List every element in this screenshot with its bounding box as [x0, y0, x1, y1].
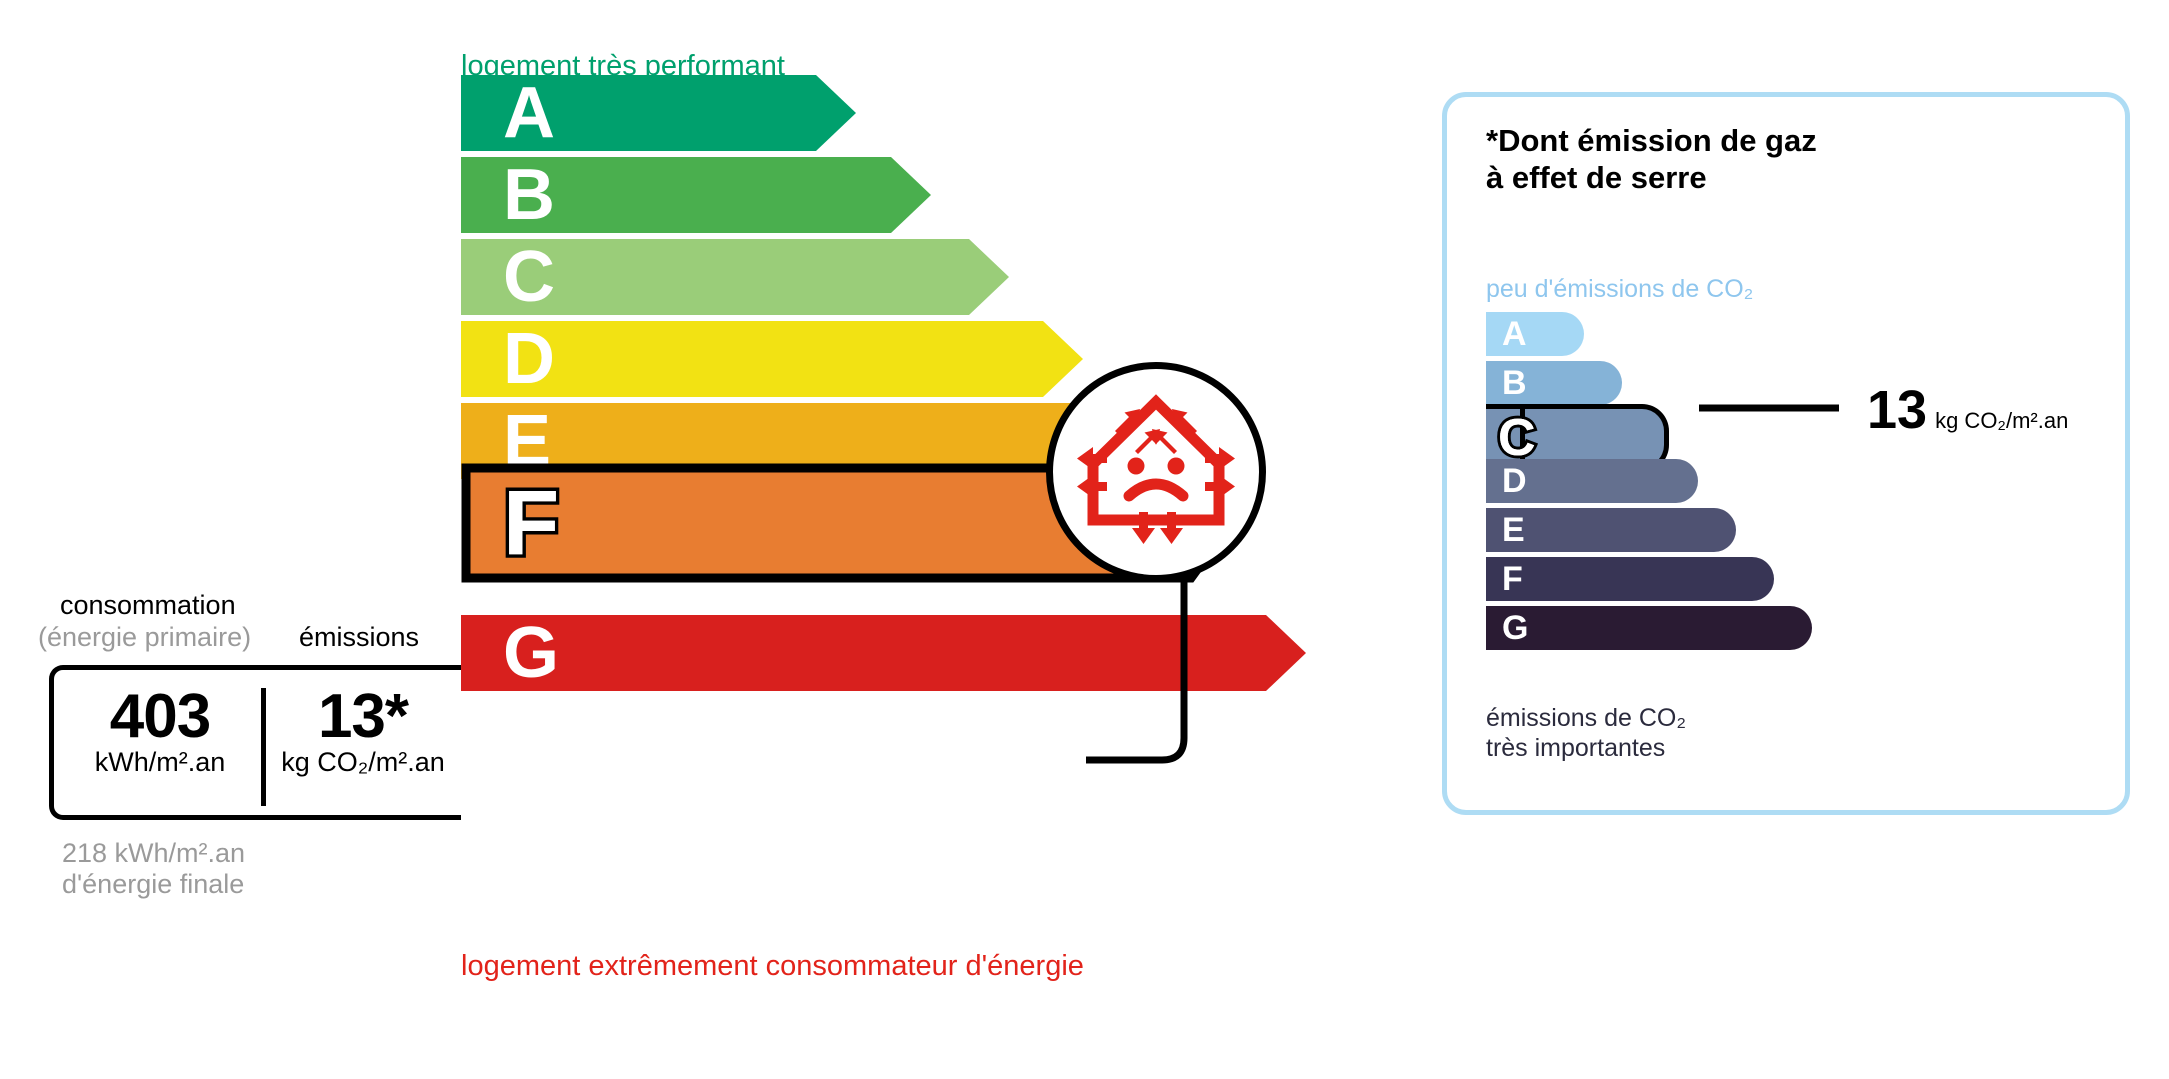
co2-value-number: 13	[1867, 380, 1927, 440]
energy-band-c: C	[461, 239, 1009, 315]
final-energy-line2: d'énergie finale	[62, 869, 245, 900]
co2-emissions-panel: *Dont émission de gaz à effet de serre p…	[1442, 92, 2130, 815]
co2-top-caption: peu d'émissions de CO₂	[1486, 275, 1753, 304]
co2-bar-letter: F	[1502, 562, 1523, 596]
co2-bar-e: E	[1486, 508, 1736, 552]
band-letter: C	[503, 241, 555, 313]
co2-bar-a: A	[1486, 312, 1584, 356]
consumption-value: 403	[64, 684, 256, 749]
emission-value-cell: 13* kg CO₂/m².an	[270, 684, 456, 778]
co2-bar-letter: C	[1498, 412, 1536, 464]
energy-band-a: A	[461, 75, 856, 151]
emission-value: 13*	[270, 684, 456, 749]
energy-band-d: D	[461, 321, 1083, 397]
emissions-label: émissions	[299, 622, 419, 653]
band-letter: F	[503, 477, 559, 569]
chart-bottom-caption: logement extrêmement consommateur d'éner…	[461, 950, 1084, 983]
co2-bar-letter: E	[1502, 513, 1525, 547]
energy-performance-chart: logement très performant ABCDEFFG logeme…	[0, 0, 1330, 1079]
co2-bar-b: B	[1486, 361, 1622, 405]
band-letter: D	[503, 323, 555, 395]
consumption-value-cell: 403 kWh/m².an	[64, 684, 256, 778]
emission-unit: kg CO₂/m².an	[270, 747, 456, 778]
final-energy-line1: 218 kWh/m².an	[62, 838, 245, 869]
co2-value-callout: 13kg CO₂/m².an	[1867, 383, 2068, 437]
co2-panel-title-line1: *Dont émission de gaz	[1486, 122, 1817, 159]
co2-bottom-caption-line2: très importantes	[1486, 733, 1686, 763]
final-energy-note: 218 kWh/m².an d'énergie finale	[62, 838, 245, 901]
value-box: 403 kWh/m².an 13* kg CO₂/m².an	[49, 665, 461, 820]
co2-bottom-caption: émissions de CO₂ très importantes	[1486, 703, 1686, 763]
band-shape	[461, 321, 1093, 407]
energy-band-g: G	[461, 615, 1306, 691]
band-letter: A	[503, 77, 555, 149]
value-box-divider	[261, 688, 266, 806]
house-bubble	[1046, 362, 1266, 582]
co2-bar-f: F	[1486, 557, 1774, 601]
co2-value-unit: kg CO₂/m².an	[1935, 408, 2068, 433]
consumption-unit: kWh/m².an	[64, 747, 256, 778]
band-letter: G	[503, 617, 559, 689]
dpe-diagram: logement très performant ABCDEFFG logeme…	[0, 0, 2169, 1079]
co2-bar-g: G	[1486, 606, 1812, 650]
co2-bar-letter: A	[1502, 317, 1527, 351]
energy-band-b: B	[461, 157, 931, 233]
co2-bottom-caption-line1: émissions de CO₂	[1486, 703, 1686, 733]
co2-panel-title: *Dont émission de gaz à effet de serre	[1486, 122, 1817, 196]
co2-bar-letter: D	[1502, 464, 1527, 498]
consumption-sublabel: (énergie primaire)	[38, 622, 251, 653]
sad-house-heat-loss-icon	[1072, 388, 1240, 556]
co2-bar-letter: G	[1502, 611, 1528, 645]
band-shape	[461, 615, 1316, 701]
co2-bar-d: D	[1486, 459, 1698, 503]
band-letter: B	[503, 159, 555, 231]
co2-panel-title-line2: à effet de serre	[1486, 159, 1817, 196]
co2-bar-letter: B	[1502, 366, 1527, 400]
consumption-label: consommation	[60, 590, 236, 621]
